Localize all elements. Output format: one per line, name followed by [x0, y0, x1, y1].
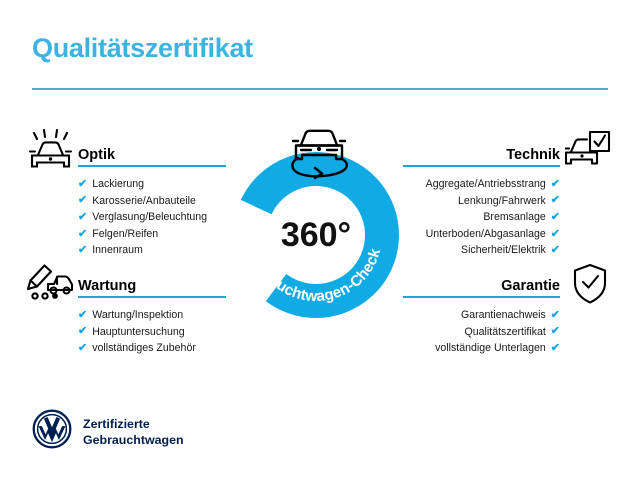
- list-item: Garantienachweis✔: [403, 307, 560, 324]
- section-title-technik: Technik: [506, 147, 560, 163]
- list-item-label: Unterboden/Abgasanlage: [426, 226, 546, 243]
- car-shine-icon: [26, 129, 76, 178]
- list-item: ✔Innenraum: [78, 242, 226, 259]
- list-item-label: vollständiges Zubehör: [92, 340, 196, 357]
- section-header-optik: Optik: [78, 141, 226, 167]
- footer-brand: Zertifizierte Gebrauchtwagen: [32, 409, 184, 454]
- check-icon: ✔: [551, 326, 560, 337]
- list-item: ✔vollständiges Zubehör: [78, 340, 226, 357]
- list-item: Qualitätszertifikat✔: [403, 324, 560, 341]
- list-item-label: vollständige Unterlagen: [435, 340, 546, 357]
- qualitaetszertifikat-page: Qualitätszertifikat: [0, 0, 640, 480]
- check-icon: ✔: [78, 179, 87, 190]
- check-icon: ✔: [78, 195, 87, 206]
- list-item: ✔Verglasung/Beleuchtung: [78, 209, 226, 226]
- list-item: ✔Felgen/Reifen: [78, 226, 226, 243]
- badge-value: 360°: [281, 216, 351, 254]
- list-item-label: Sicherheit/Elektrik: [461, 242, 546, 259]
- section-title-optik: Optik: [78, 147, 115, 163]
- check-icon: ✔: [551, 343, 560, 354]
- car-rotate-icon: [284, 126, 354, 189]
- section-divider-garantie: [403, 296, 560, 298]
- check-icon: ✔: [78, 229, 87, 240]
- check-icon: ✔: [551, 245, 560, 256]
- section-header-technik: Technik: [403, 141, 560, 167]
- list-item: Sicherheit/Elektrik✔: [403, 242, 560, 259]
- list-item: vollständige Unterlagen✔: [403, 340, 560, 357]
- section-divider-technik: [403, 165, 560, 167]
- list-item: ✔Wartung/Inspektion: [78, 307, 226, 324]
- list-item-label: Bremsanlage: [483, 209, 545, 226]
- list-item: Unterboden/Abgasanlage✔: [403, 226, 560, 243]
- list-item-label: Wartung/Inspektion: [92, 307, 183, 324]
- section-technik: Technik Aggregate/Antriebsstrang✔ Lenkun…: [403, 141, 560, 259]
- checklist-technik: Aggregate/Antriebsstrang✔ Lenkung/Fahrwe…: [403, 176, 560, 259]
- header-divider: [32, 88, 608, 90]
- check-icon: ✔: [78, 343, 87, 354]
- check-icon: ✔: [78, 310, 87, 321]
- check-icon: ✔: [551, 212, 560, 223]
- page-title: Qualitätszertifikat: [32, 33, 253, 64]
- list-item-label: Lenkung/Fahrwerk: [458, 193, 546, 210]
- list-item-label: Felgen/Reifen: [92, 226, 158, 243]
- section-divider-wartung: [78, 296, 226, 298]
- check-icon: ✔: [551, 195, 560, 206]
- check-icon: ✔: [78, 245, 87, 256]
- list-item: ✔Lackierung: [78, 176, 226, 193]
- vw-logo-icon: [32, 409, 72, 454]
- check-icon: ✔: [551, 179, 560, 190]
- list-item: ✔Karosserie/Anbauteile: [78, 193, 226, 210]
- car-checkbox-icon: [565, 130, 611, 175]
- check-icon: ✔: [78, 212, 87, 223]
- footer-line-2: Gebrauchtwagen: [83, 432, 184, 448]
- checklist-optik: ✔Lackierung ✔Karosserie/Anbauteile ✔Verg…: [78, 176, 226, 259]
- list-item-label: Garantienachweis: [461, 307, 546, 324]
- list-item-label: Karosserie/Anbauteile: [92, 193, 196, 210]
- section-title-wartung: Wartung: [78, 278, 136, 294]
- footer-text: Zertifizierte Gebrauchtwagen: [83, 416, 184, 448]
- checklist-wartung: ✔Wartung/Inspektion ✔Hauptuntersuchung ✔…: [78, 307, 226, 357]
- checklist-garantie: Garantienachweis✔ Qualitätszertifikat✔ v…: [403, 307, 560, 357]
- section-optik: Optik ✔Lackierung ✔Karosserie/Anbauteile…: [78, 141, 226, 259]
- list-item-label: Lackierung: [92, 176, 144, 193]
- shield-check-icon: [572, 263, 608, 310]
- list-item: Aggregate/Antriebsstrang✔: [403, 176, 560, 193]
- footer-line-1: Zertifizierte: [83, 416, 184, 432]
- section-header-garantie: Garantie: [403, 272, 560, 298]
- list-item: Lenkung/Fahrwerk✔: [403, 193, 560, 210]
- list-item-label: Verglasung/Beleuchtung: [92, 209, 207, 226]
- list-item: ✔Hauptuntersuchung: [78, 324, 226, 341]
- list-item-label: Hauptuntersuchung: [92, 324, 184, 341]
- check-icon: ✔: [551, 229, 560, 240]
- section-wartung: Wartung ✔Wartung/Inspektion ✔Hauptunters…: [78, 272, 226, 357]
- list-item-label: Qualitätszertifikat: [465, 324, 546, 341]
- check-icon: ✔: [551, 310, 560, 321]
- section-divider-optik: [78, 165, 226, 167]
- list-item-label: Innenraum: [92, 242, 143, 259]
- list-item-label: Aggregate/Antriebsstrang: [426, 176, 546, 193]
- check-icon: ✔: [78, 326, 87, 337]
- section-title-garantie: Garantie: [501, 278, 560, 294]
- service-book-pen-icon: [24, 261, 76, 310]
- section-header-wartung: Wartung: [78, 272, 226, 298]
- section-garantie: Garantie Garantienachweis✔ Qualitätszert…: [403, 272, 560, 357]
- list-item: Bremsanlage✔: [403, 209, 560, 226]
